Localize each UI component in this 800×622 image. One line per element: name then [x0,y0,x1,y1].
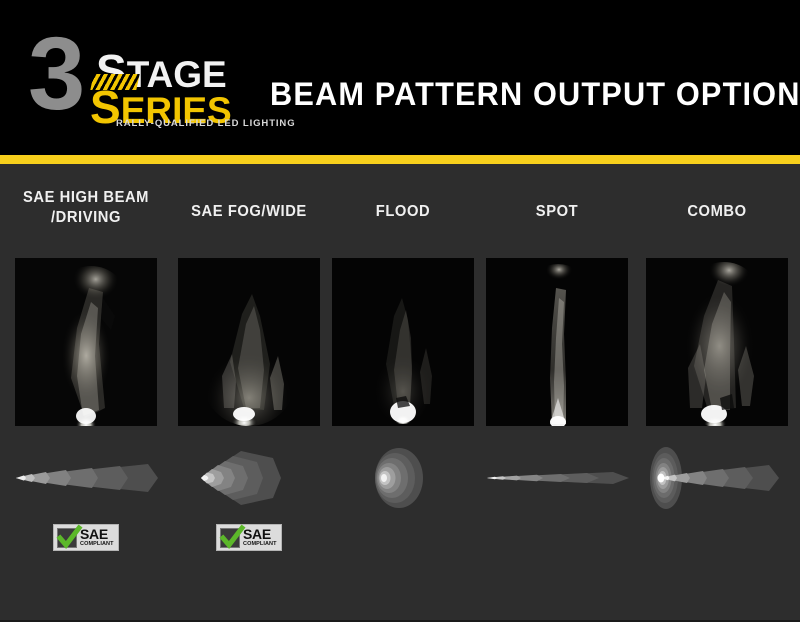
check-icon [220,528,240,548]
beam-photo-sae-fog-wide [178,258,320,426]
logo-numeral-3: 3 [28,22,80,125]
beam-column-sae-high-beam-driving: SAE HIGH BEAM /DRIVING [0,164,172,594]
sae-badge-main: SAE [243,527,277,541]
logo-tagline: RALLY-QUALIFIED LED LIGHTING [116,118,296,129]
beam-column-spot: SPOT [480,164,634,594]
beam-pattern-infographic: 3 STAGE SERIES RALLY-QUALIFIED LED LIGHT… [0,0,800,622]
beam-diagram-spot [481,442,633,514]
beam-column-sae-fog-wide: SAE FOG/WIDE [172,164,326,594]
beam-photo-spot [486,258,628,426]
beam-photo-flood [332,258,474,426]
sae-badge-main: SAE [80,527,114,541]
beam-photo-combo [646,258,788,426]
beam-label-flood: FLOOD [330,202,476,222]
stage-series-logo: 3 STAGE SERIES RALLY-QUALIFIED LED LIGHT… [28,30,243,130]
beam-label-sae-fog-wide: SAE FOG/WIDE [176,202,322,222]
beam-column-combo: COMBO [634,164,800,594]
beam-diagram-sae-fog-wide [173,442,325,514]
sae-badge-sub: COMPLIANT [243,542,277,548]
beam-label-spot: SPOT [484,202,630,222]
sae-badge-sub: COMPLIANT [80,542,114,548]
beam-diagram-combo [641,442,793,514]
sae-compliant-badge-sae-fog-wide: SAE COMPLIANT [216,524,282,551]
beam-label-sae-high-beam-driving: SAE HIGH BEAM /DRIVING [4,188,167,228]
beam-diagram-flood [327,442,479,514]
sae-badge-text: SAE COMPLIANT [80,527,114,548]
beam-photo-sae-high-beam-driving [15,258,157,426]
yellow-accent-divider [0,155,800,164]
header-bar: 3 STAGE SERIES RALLY-QUALIFIED LED LIGHT… [0,0,800,155]
sae-compliant-badge-sae-high-beam-driving: SAE COMPLIANT [53,524,119,551]
beam-diagram-sae-high-beam-driving [10,442,162,514]
sae-badge-text: SAE COMPLIANT [243,527,277,548]
page-title: BEAM PATTERN OUTPUT OPTIONS [270,76,800,113]
check-icon [57,528,77,548]
beam-column-flood: FLOOD [326,164,480,594]
beam-label-combo: COMBO [638,202,796,222]
